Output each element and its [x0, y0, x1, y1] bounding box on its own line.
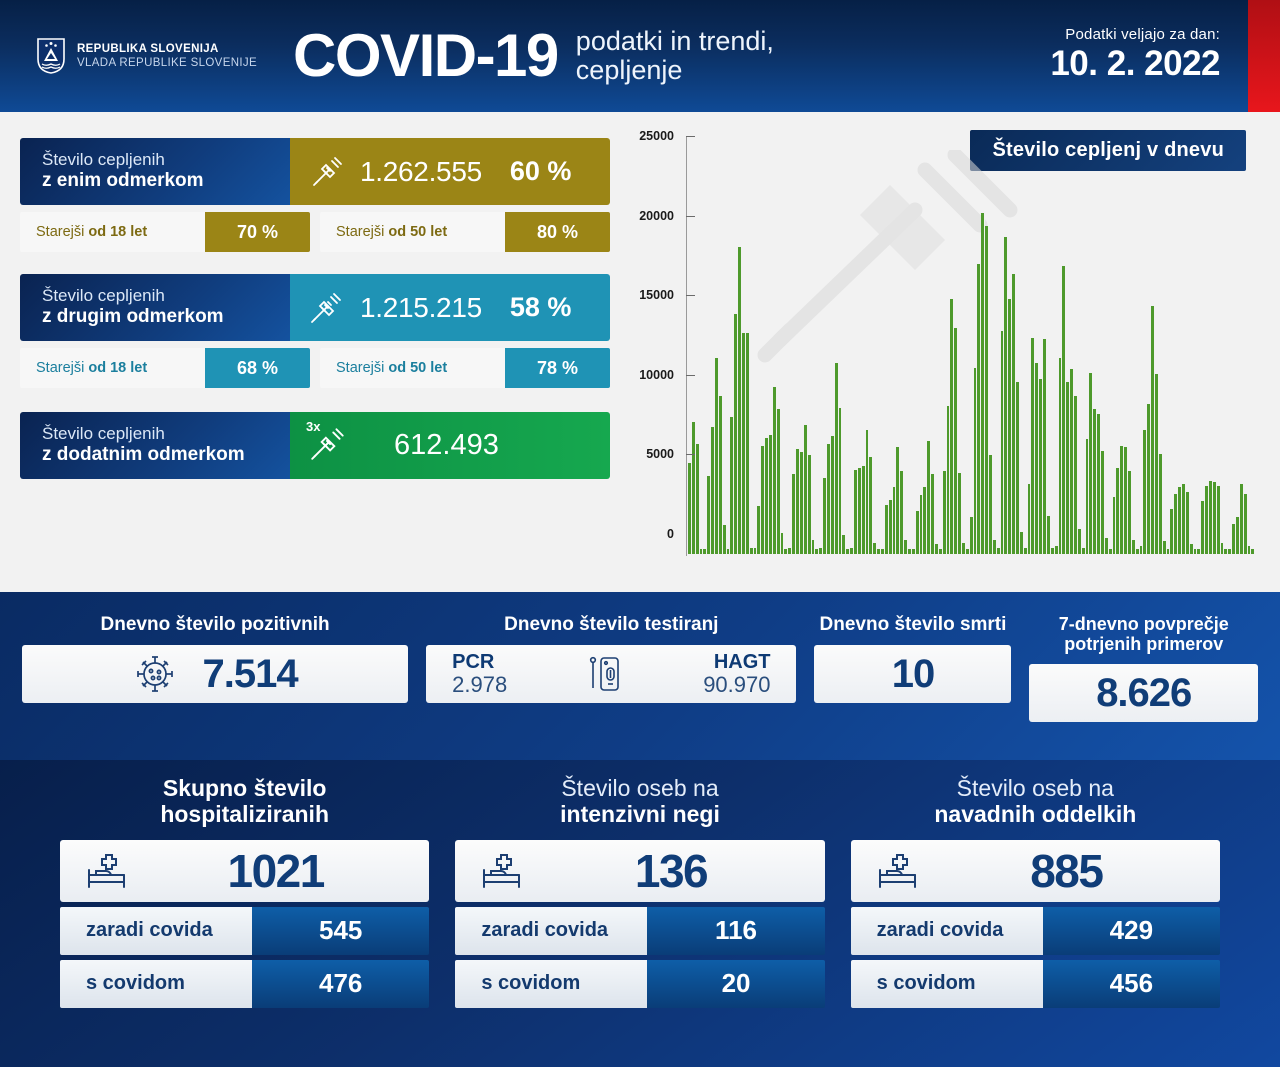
daily-deaths-box: 10 [814, 645, 1011, 703]
dose1-label-line2: z enim odmerkom [42, 170, 290, 193]
chart-y-tick-mark [686, 375, 695, 376]
chart-bar [1159, 454, 1163, 554]
dose2-label-line2: z drugim odmerkom [42, 306, 290, 329]
chart-bar [869, 457, 873, 554]
page-subtitle-line1: podatki in trendi, [576, 27, 774, 56]
dose1-sub-18-bold: od 18 let [88, 224, 147, 240]
chart-bar [1244, 494, 1248, 554]
hospital-total-value: 885 [937, 844, 1196, 898]
hospital-column-2: Število oseb nanavadnih oddelkih 885zara… [851, 776, 1220, 1067]
dose1-sub-18: Starejši od 18 let 70 % [20, 212, 310, 252]
hospital-title-line2: hospitaliziranih [160, 802, 329, 828]
daily-deaths-title: Dnevno število smrti [820, 614, 1007, 635]
chart-y-tick-mark [686, 136, 695, 137]
hospital-row-label: zaradi covida [60, 907, 252, 955]
hospital-title-line2: intenzivni negi [560, 802, 720, 828]
dose1-label-line1: Število cepljenih [42, 150, 290, 170]
daily-positives-title: Dnevno število pozitivnih [101, 614, 330, 635]
hagt-label: HAGT [703, 652, 770, 673]
chart-bars [688, 156, 1256, 554]
avg7-title-line2: potrjenih primerov [1059, 634, 1229, 654]
dose1-sub-50-label: Starejši od 50 let [320, 212, 505, 252]
daily-positives-group: Dnevno število pozitivnih [22, 614, 408, 760]
dose2-label: Število cepljenih z drugim odmerkom [20, 274, 290, 341]
report-date: Podatki veljajo za dan: 10. 2. 2022 [1050, 26, 1220, 84]
chart-y-tick-label: 5000 [646, 447, 674, 461]
slovenia-coat-of-arms-icon [36, 37, 66, 75]
page-subtitle-line2: cepljenje [576, 56, 774, 85]
dose2-sub-18-label: Starejši od 18 let [20, 348, 205, 388]
dose2-sub-50-percent: 78 % [505, 348, 610, 388]
hospital-bed-icon [84, 850, 130, 892]
seven-day-average-box: 8.626 [1029, 664, 1258, 722]
daily-tests-group: Dnevno število testiranj PCR 2.978 [426, 614, 796, 760]
hospital-total-box-1: 136 [455, 840, 824, 902]
hospital-column-title-1: Število oseb naintenzivni negi [560, 776, 720, 828]
daily-positives-value: 7.514 [203, 652, 298, 697]
hospital-row-2-1: s covidom456 [851, 960, 1220, 1008]
hospital-title-line1: Število oseb na [560, 776, 720, 802]
dose2-sub-50: Starejši od 50 let 78 % [320, 348, 610, 388]
dose2-values: 1.215.215 58 % [290, 274, 610, 341]
vaccination-card-dose3: Število cepljenih z dodatnim odmerkom 3x [20, 412, 610, 479]
hospital-row-value: 116 [647, 907, 824, 955]
chart-bar [746, 333, 750, 554]
page-title: COVID-19 [293, 26, 558, 86]
dose2-sub-50-plain: Starejši [336, 360, 384, 376]
chart-bar [1251, 549, 1255, 554]
dose2-count: 1.215.215 [360, 292, 482, 324]
chart-y-tick-label: 20000 [639, 209, 674, 223]
dose2-sub-18-bold: od 18 let [88, 360, 147, 376]
hospital-row-label: zaradi covida [455, 907, 647, 955]
dose1-sub-50-percent: 80 % [505, 212, 610, 252]
hospital-column-title-0: Skupno številohospitaliziranih [160, 776, 329, 828]
dose1-sub-50-plain: Starejši [336, 224, 384, 240]
chart-y-tick-mark [686, 454, 695, 455]
dose1-sub-18-label: Starejši od 18 let [20, 212, 205, 252]
chart-plot-area: 0500010000150002000025000 [630, 136, 1256, 576]
chart-y-tick-label: 0 [667, 527, 674, 541]
hospital-title-line2: navadnih oddelkih [934, 802, 1136, 828]
dose1-label: Število cepljenih z enim odmerkom [20, 138, 290, 205]
dose1-count: 1.262.555 [360, 156, 482, 188]
vaccination-and-chart-section: Število cepljenih z enim odmerkom [0, 112, 1280, 592]
dose1-percent: 60 % [510, 156, 572, 187]
hospital-row-1-1: s covidom20 [455, 960, 824, 1008]
chart-bar [839, 408, 843, 554]
test-kit-icon [588, 654, 622, 694]
daily-positives-box: 7.514 [22, 645, 408, 703]
avg7-title-line1: 7-dnevno povprečje [1059, 614, 1229, 634]
chart-y-tick-label: 25000 [639, 129, 674, 143]
daily-tests-title: Dnevno število testiranj [504, 614, 718, 635]
page-header: REPUBLIKA SLOVENIJA VLADA REPUBLIKE SLOV… [0, 0, 1280, 112]
dose2-label-line1: Število cepljenih [42, 286, 290, 306]
dose1-sub-18-plain: Starejši [36, 224, 84, 240]
seven-day-average-group: 7-dnevno povprečje potrjenih primerov 8.… [1029, 614, 1258, 760]
hospital-bed-icon [875, 850, 921, 892]
hospital-total-value: 1021 [146, 844, 405, 898]
chart-bar [931, 474, 935, 554]
hospital-row-value: 545 [252, 907, 429, 955]
vaccination-card-dose2: Število cepljenih z drugim odmerkom [20, 274, 610, 388]
date-value: 10. 2. 2022 [1050, 44, 1220, 84]
dose3-badge: 3x [306, 419, 320, 434]
dose1-values: 1.262.555 60 % [290, 138, 610, 205]
chart-y-axis: 0500010000150002000025000 [630, 136, 686, 556]
pcr-label: PCR [452, 652, 507, 673]
chart-y-tick-mark [686, 295, 695, 296]
dose2-sub-50-label: Starejši od 50 let [320, 348, 505, 388]
hospitalization-section: Skupno številohospitaliziranih 1021zarad… [0, 760, 1280, 1067]
virus-icon [133, 652, 177, 696]
dose3-count: 612.493 [394, 429, 499, 462]
dose3-values: 3x 6 [290, 412, 610, 479]
hospital-row-label: s covidom [455, 960, 647, 1008]
seven-day-average-value: 8.626 [1096, 671, 1191, 716]
dose1-sub-18-percent: 70 % [205, 212, 310, 252]
hospital-row-label: s covidom [60, 960, 252, 1008]
hospital-column-1: Število oseb naintenzivni negi 136zaradi… [455, 776, 824, 1067]
dose2-sub-50-bold: od 50 let [388, 360, 447, 376]
daily-stats-band: Dnevno število pozitivnih [0, 592, 1280, 760]
daily-tests-box: PCR 2.978 HAGT 90.970 [426, 645, 796, 703]
dose1-sub-50: Starejši od 50 let 80 % [320, 212, 610, 252]
hospital-column-0: Skupno številohospitaliziranih 1021zarad… [60, 776, 429, 1067]
daily-vaccinations-chart: Število cepljenj v dnevu 050001000015000… [620, 112, 1280, 592]
hospital-total-box-0: 1021 [60, 840, 429, 902]
hospital-row-label: zaradi covida [851, 907, 1043, 955]
daily-deaths-group: Dnevno število smrti 10 [814, 614, 1011, 760]
dose2-sub-18-percent: 68 % [205, 348, 310, 388]
dose1-sub-50-bold: od 50 let [388, 224, 447, 240]
chart-bar [777, 409, 781, 554]
dose2-sub-18: Starejši od 18 let 68 % [20, 348, 310, 388]
government-branding: REPUBLIKA SLOVENIJA VLADA REPUBLIKE SLOV… [36, 37, 257, 75]
syringe-icon [308, 153, 346, 191]
hospital-row-label: s covidom [851, 960, 1043, 1008]
hospital-row-0-1: s covidom476 [60, 960, 429, 1008]
hospital-row-value: 20 [647, 960, 824, 1008]
daily-deaths-value: 10 [892, 652, 935, 697]
hospital-row-0-0: zaradi covida545 [60, 907, 429, 955]
gov-name-line1: REPUBLIKA SLOVENIJA [77, 42, 257, 56]
syringe-double-icon [308, 289, 346, 327]
hagt-test-item: HAGT 90.970 [703, 652, 770, 696]
vaccination-cards: Število cepljenih z enim odmerkom [0, 112, 620, 592]
hospital-title-line1: Število oseb na [934, 776, 1136, 802]
hospital-row-value: 429 [1043, 907, 1220, 955]
dose3-label-line2: z dodatnim odmerkom [42, 444, 290, 467]
chart-bar [1016, 382, 1020, 554]
hospital-title-line1: Skupno število [160, 776, 329, 802]
hospital-total-box-2: 885 [851, 840, 1220, 902]
chart-bar [696, 444, 700, 554]
dose2-percent: 58 % [510, 292, 572, 323]
chart-y-tick-mark [686, 216, 695, 217]
dose3-label-line1: Število cepljenih [42, 424, 290, 444]
vaccination-card-dose1: Število cepljenih z enim odmerkom [20, 138, 610, 252]
red-accent-bar [1248, 0, 1280, 112]
chart-y-tick-label: 15000 [639, 288, 674, 302]
hospital-row-value: 456 [1043, 960, 1220, 1008]
chart-bar [958, 473, 962, 554]
chart-axis-line [686, 136, 687, 556]
dose3-label: Število cepljenih z dodatnim odmerkom [20, 412, 290, 479]
pcr-test-item: PCR 2.978 [452, 652, 507, 696]
hospital-row-2-0: zaradi covida429 [851, 907, 1220, 955]
pcr-value: 2.978 [452, 673, 507, 696]
dose2-sub-18-plain: Starejši [36, 360, 84, 376]
hagt-value: 90.970 [703, 673, 770, 696]
hospital-total-value: 136 [541, 844, 800, 898]
seven-day-average-title: 7-dnevno povprečje potrjenih primerov [1059, 614, 1229, 654]
hospital-column-title-2: Število oseb nanavadnih oddelkih [934, 776, 1136, 828]
hospital-bed-icon [479, 850, 525, 892]
gov-name-line2: VLADA REPUBLIKE SLOVENIJE [77, 56, 257, 70]
hospital-row-1-0: zaradi covida116 [455, 907, 824, 955]
hospital-row-value: 476 [252, 960, 429, 1008]
chart-y-tick-label: 10000 [639, 368, 674, 382]
date-label: Podatki veljajo za dan: [1050, 26, 1220, 43]
